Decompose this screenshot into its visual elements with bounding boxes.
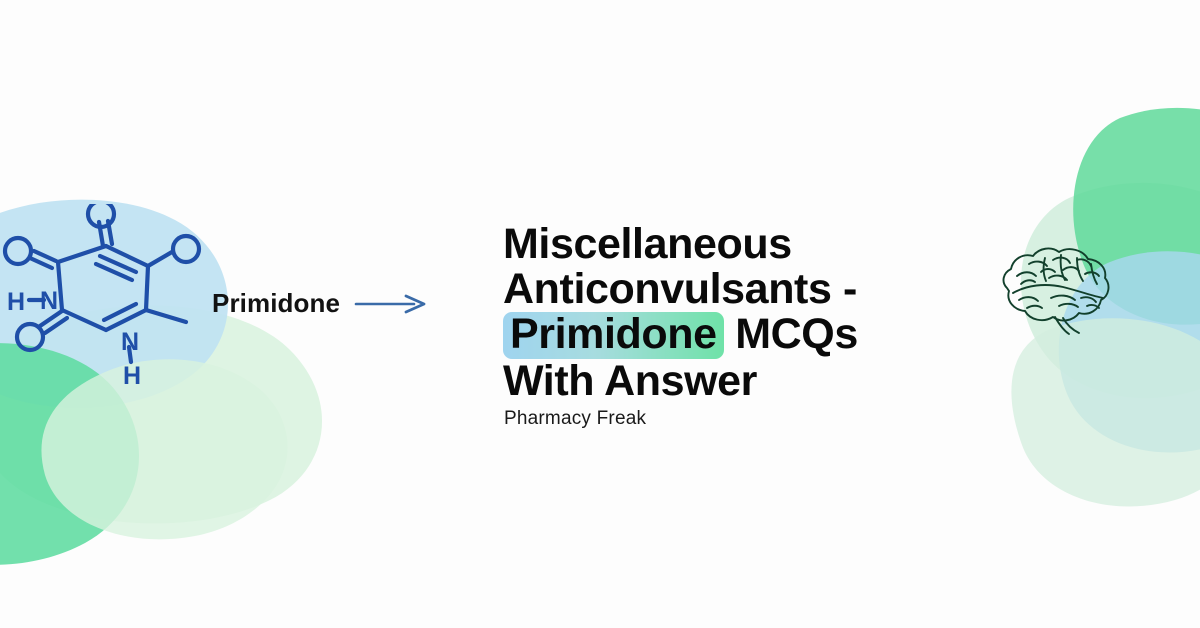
right-mint-blob-lower: [1011, 318, 1200, 506]
right-arrow-icon: [354, 293, 428, 315]
title-line-1: Miscellaneous: [503, 222, 1003, 267]
title-line-3-rest: MCQs: [724, 310, 858, 358]
title-line-2: Anticonvulsants -: [503, 267, 1003, 312]
ring-bond-upper-left: [58, 246, 106, 262]
primidone-molecule-structure: N H N H: [0, 204, 226, 394]
molecule-annotation: Primidone: [212, 288, 428, 319]
ring-bond-right: [146, 266, 148, 310]
nitrogen-left-label: N: [40, 287, 58, 315]
site-byline: Pharmacy Freak: [504, 408, 646, 430]
title-line-3: Primidone MCQs: [503, 312, 1003, 359]
page-title: Miscellaneous Anticonvulsants - Primidon…: [503, 222, 1003, 404]
oxygen-upper-right-atom: [173, 236, 199, 262]
methyl-bond: [146, 310, 186, 322]
hydrogen-left-label: H: [7, 288, 25, 316]
banner-canvas: N H N H Primidone Miscellaneous Anticonv…: [0, 0, 1200, 628]
headline-block: Miscellaneous Anticonvulsants - Primidon…: [503, 222, 1003, 404]
brain-icon: [993, 238, 1115, 343]
hydrogen-bottom-label: H: [123, 362, 141, 390]
oxygen-lower-left-atom: [17, 324, 43, 350]
title-line-4: With Answer: [503, 359, 1003, 404]
ring-bond-lower-right: [106, 310, 146, 330]
title-highlight-term: Primidone: [503, 312, 724, 359]
hydroxyl-right-bond: [148, 252, 172, 266]
oxygen-upper-left-atom: [5, 238, 31, 264]
nitrogen-bottom-label: N: [121, 328, 139, 356]
ring-bond-lower-left: [62, 310, 106, 330]
ring-bond-left: [58, 262, 62, 310]
molecule-label: Primidone: [212, 288, 340, 319]
